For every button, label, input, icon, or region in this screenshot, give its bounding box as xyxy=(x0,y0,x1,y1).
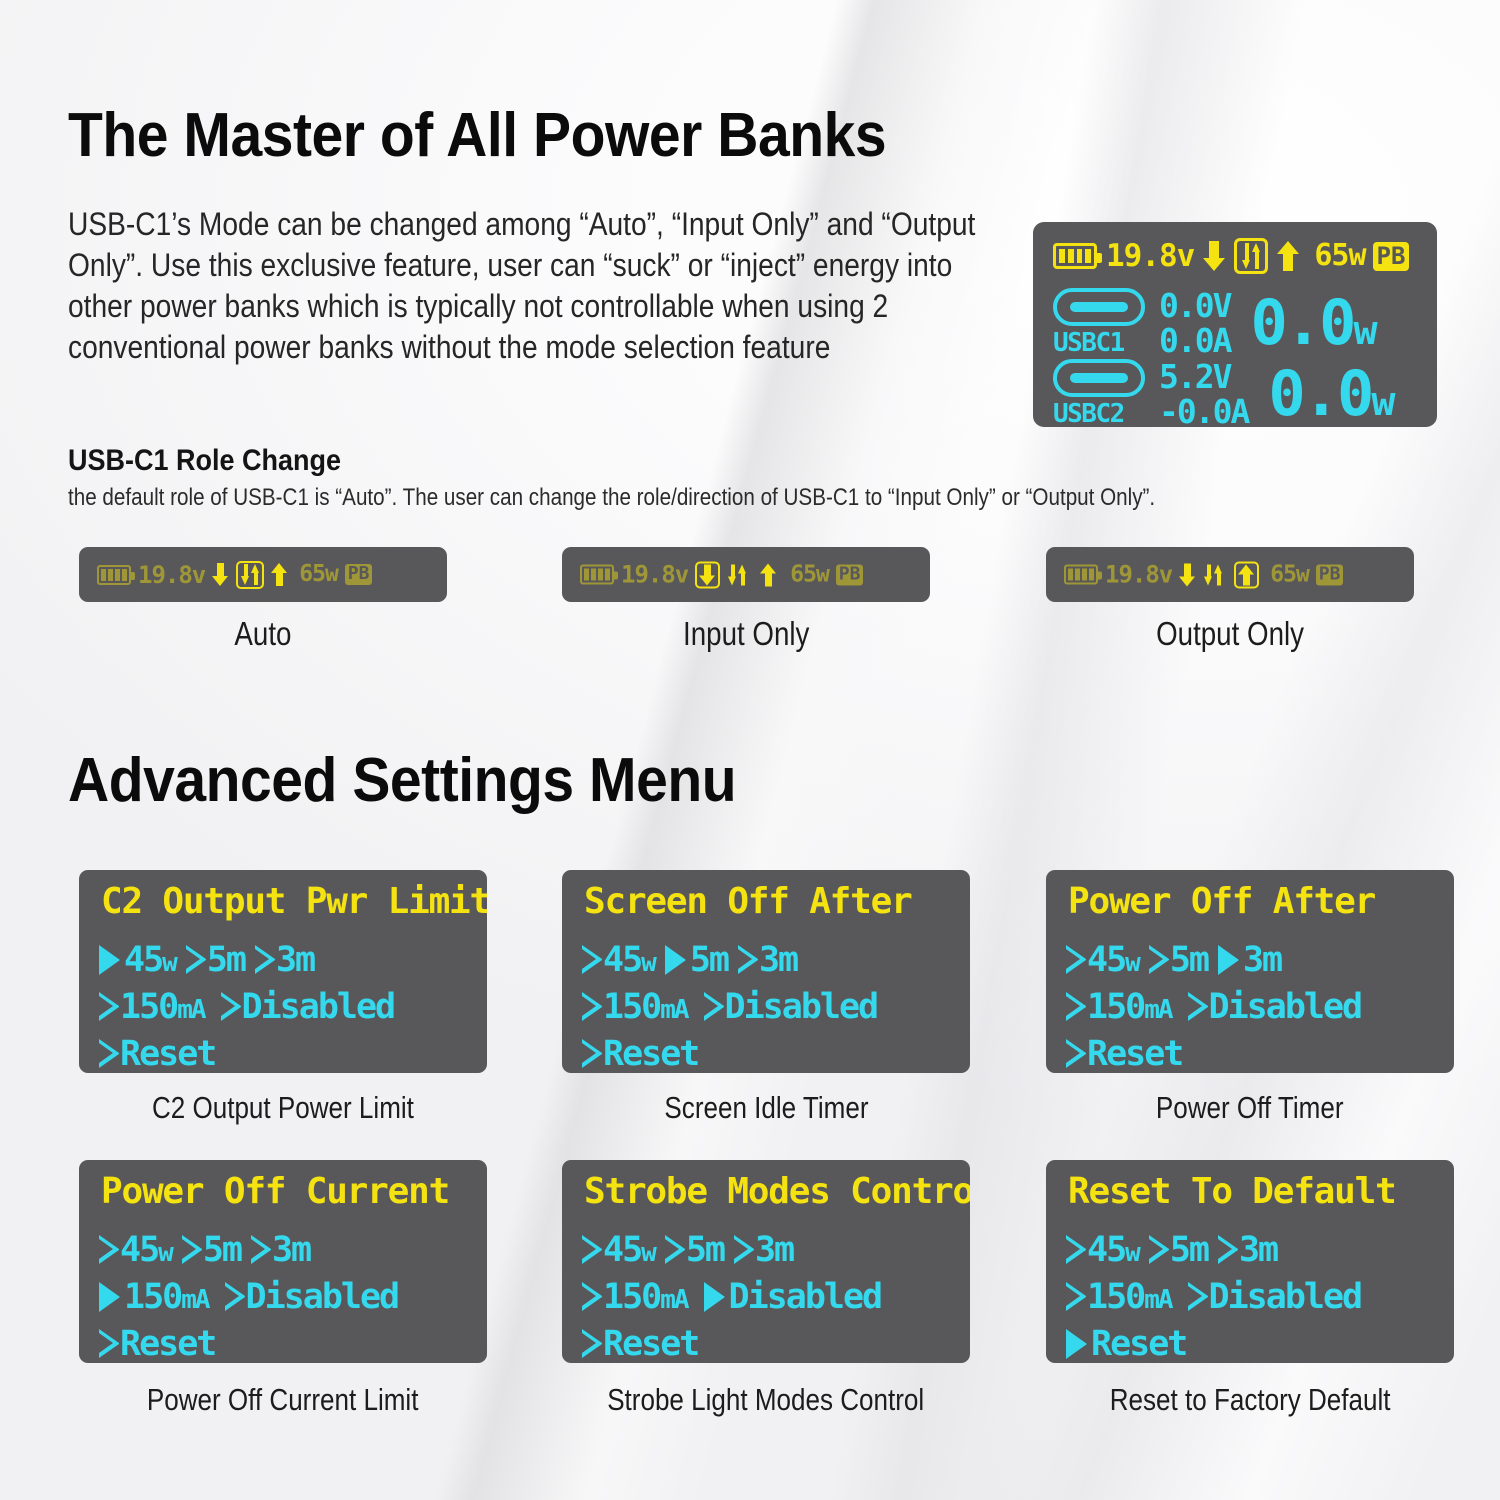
settings-option-label: Reset xyxy=(603,1034,698,1074)
settings-option-reset[interactable]: Reset xyxy=(1066,1034,1182,1074)
settings-option-45w[interactable]: 45w xyxy=(1066,940,1139,980)
settings-option-5m[interactable]: 5m xyxy=(1149,1230,1208,1270)
settings-option-3m[interactable]: 3m xyxy=(738,940,797,980)
settings-option-label: 3m xyxy=(755,1230,793,1270)
settings-option-label: 5m xyxy=(686,1230,724,1270)
settings-option-line: Reset xyxy=(99,1320,398,1363)
settings-option-line: 45w5m3m xyxy=(582,1226,881,1273)
settings-option-line: 45w5m3m xyxy=(99,1226,398,1273)
battery-voltage: 19.8v xyxy=(1106,241,1194,272)
port-label: USBC2 xyxy=(1053,399,1151,427)
option-marker-icon xyxy=(665,1235,682,1264)
arrow-down-icon-selected xyxy=(695,561,720,588)
settings-option-45w[interactable]: 45w xyxy=(582,1230,655,1270)
settings-card-5: Strobe Modes Control45w5m3m150mADisabled… xyxy=(562,1160,970,1363)
settings-card-4: Power Off Current45w5m3m150mADisabledRes… xyxy=(79,1160,487,1363)
settings-option-5m[interactable]: 5m xyxy=(1149,940,1208,980)
settings-option-150ma[interactable]: 150mA xyxy=(99,987,205,1027)
settings-option-label: Disabled xyxy=(729,1277,882,1317)
settings-card-caption-text: Power Off Timer xyxy=(1156,1090,1344,1126)
settings-option-label: 45w xyxy=(120,1230,172,1270)
settings-card-caption: Strobe Light Modes Control xyxy=(562,1382,970,1418)
port-power-value: 0.0 xyxy=(1250,286,1353,359)
port-voltage: 5.2V xyxy=(1159,360,1248,393)
role-display-input-only: 19.8v 65w PB xyxy=(562,547,930,602)
port-power-value: 0.0 xyxy=(1268,357,1371,427)
power-rating: 65w xyxy=(1270,563,1309,586)
settings-option-3m[interactable]: 3m xyxy=(251,1230,310,1270)
role-caption-text: Auto xyxy=(234,615,291,653)
settings-option-disabled[interactable]: Disabled xyxy=(221,987,395,1027)
settings-card-caption: Screen Idle Timer xyxy=(562,1090,970,1126)
settings-option-line: Reset xyxy=(1066,1320,1361,1363)
settings-option-line: Reset xyxy=(582,1320,881,1363)
selected-cursor-icon xyxy=(99,945,120,975)
settings-option-label: 3m xyxy=(1239,1230,1277,1270)
settings-option-line: 150mADisabled xyxy=(1066,983,1361,1030)
settings-option-label: Reset xyxy=(603,1324,698,1364)
option-marker-icon xyxy=(1066,945,1083,974)
settings-option-label: 150mA xyxy=(124,1277,209,1317)
settings-card-title: Screen Off After xyxy=(584,884,912,920)
role-change-note: the default role of USB-C1 is “Auto”. Th… xyxy=(68,484,1155,512)
settings-card-caption-text: Strobe Light Modes Control xyxy=(608,1382,925,1418)
option-marker-icon xyxy=(738,945,755,974)
port-current: -0.0A xyxy=(1159,395,1248,427)
selected-cursor-icon xyxy=(665,945,686,975)
settings-option-label: 3m xyxy=(272,1230,310,1270)
settings-option-label: 5m xyxy=(690,940,728,980)
settings-option-3m[interactable]: 3m xyxy=(734,1230,793,1270)
battery-full-icon xyxy=(97,565,131,585)
option-marker-icon xyxy=(1218,1235,1235,1264)
power-rating: 65w xyxy=(790,563,829,586)
mode-badge: PB xyxy=(345,564,373,585)
settings-option-label: 3m xyxy=(276,940,314,980)
option-marker-icon xyxy=(186,945,203,974)
settings-card-caption: Power Off Current Limit xyxy=(79,1382,487,1418)
port-voltage-current: 0.0V 0.0A xyxy=(1159,289,1230,357)
settings-option-label: Reset xyxy=(120,1324,215,1364)
bidirectional-arrows-icon xyxy=(727,564,747,586)
option-marker-icon xyxy=(734,1235,751,1264)
settings-card-title: Strobe Modes Control xyxy=(584,1174,970,1210)
mode-badge: PB xyxy=(836,564,864,585)
settings-option-label: 5m xyxy=(1170,940,1208,980)
option-marker-icon xyxy=(251,1235,268,1264)
mode-badge: PB xyxy=(1373,242,1410,271)
port-voltage: 0.0V xyxy=(1159,289,1230,322)
role-caption-text: Input Only xyxy=(683,615,809,653)
option-marker-icon xyxy=(99,1039,116,1068)
option-marker-icon xyxy=(221,992,238,1021)
settings-option-label: 5m xyxy=(203,1230,241,1270)
power-rating: 65w xyxy=(1314,241,1365,271)
option-marker-icon xyxy=(582,1039,599,1068)
settings-option-disabled[interactable]: Disabled xyxy=(1188,1277,1362,1317)
role-change-heading: USB-C1 Role Change xyxy=(68,444,341,478)
settings-option-label: Disabled xyxy=(725,987,878,1027)
settings-option-150ma[interactable]: 150mA xyxy=(1066,1277,1172,1317)
settings-option-line: Reset xyxy=(99,1030,394,1073)
option-marker-icon xyxy=(1149,1235,1166,1264)
settings-option-45w[interactable]: 45w xyxy=(582,940,655,980)
settings-option-line: 45w5m3m xyxy=(582,936,877,983)
selected-cursor-icon xyxy=(704,1282,725,1312)
settings-option-label: 3m xyxy=(759,940,797,980)
settings-option-label: 150mA xyxy=(603,1277,688,1317)
arrow-up-icon xyxy=(1277,241,1299,271)
settings-option-line: 150mADisabled xyxy=(582,983,877,1030)
settings-option-line: 150mADisabled xyxy=(1066,1273,1361,1320)
intro-paragraph: USB-C1’s Mode can be changed among “Auto… xyxy=(68,204,1014,368)
settings-option-45w[interactable]: 45w xyxy=(99,1230,172,1270)
settings-option-line: 150mADisabled xyxy=(582,1273,881,1320)
role-display-auto: 19.8v 65w PB xyxy=(79,547,447,602)
settings-card-2: Screen Off After45w5m3m150mADisabledRese… xyxy=(562,870,970,1073)
settings-option-label: Disabled xyxy=(1209,1277,1362,1317)
main-status-display: 19.8v 65w PB USBC1 xyxy=(1033,222,1437,427)
usb-c-port-icon: USBC1 xyxy=(1053,288,1151,358)
settings-card-caption-text: C2 Output Power Limit xyxy=(152,1090,414,1126)
option-marker-icon xyxy=(1188,992,1205,1021)
option-marker-icon xyxy=(255,945,272,974)
option-marker-icon xyxy=(704,992,721,1021)
settings-option-line: Reset xyxy=(582,1030,877,1073)
settings-option-label: 45w xyxy=(1087,1230,1139,1270)
settings-option-label: 45w xyxy=(603,940,655,980)
bidirectional-arrows-icon-selected xyxy=(236,561,264,589)
settings-option-label: 45w xyxy=(124,940,176,980)
settings-card-6: Reset To Default45w5m3m150mADisabledRese… xyxy=(1046,1160,1454,1363)
selected-cursor-icon xyxy=(99,1282,120,1312)
arrow-up-icon-selected xyxy=(1234,561,1259,588)
settings-option-disabled[interactable]: Disabled xyxy=(704,1277,882,1317)
settings-option-disabled[interactable]: Disabled xyxy=(704,987,878,1027)
selected-cursor-icon xyxy=(1218,945,1239,975)
usb-c-port-icon: USBC2 xyxy=(1053,359,1151,427)
battery-voltage: 19.8v xyxy=(1105,563,1172,587)
settings-option-5m[interactable]: 5m xyxy=(186,940,245,980)
option-marker-icon xyxy=(582,1235,599,1264)
settings-card-title: Reset To Default xyxy=(1068,1174,1396,1210)
settings-card-3: Power Off After45w5m3m150mADisabledReset xyxy=(1046,870,1454,1073)
role-caption-input-only: Input Only xyxy=(562,615,930,653)
settings-option-reset[interactable]: Reset xyxy=(99,1034,215,1074)
option-marker-icon xyxy=(1066,992,1083,1021)
settings-option-150ma[interactable]: 150mA xyxy=(1066,987,1172,1027)
settings-option-label: 150mA xyxy=(1087,987,1172,1027)
settings-option-150ma[interactable]: 150mA xyxy=(99,1277,209,1317)
settings-option-label: 3m xyxy=(1243,940,1281,980)
settings-option-label: Reset xyxy=(1087,1034,1182,1074)
settings-option-label: 45w xyxy=(1087,940,1139,980)
option-marker-icon xyxy=(99,1329,116,1358)
settings-option-list: 45w5m3m150mADisabledReset xyxy=(99,1226,398,1363)
settings-option-label: 150mA xyxy=(1087,1277,1172,1317)
arrow-up-icon xyxy=(271,563,288,586)
settings-option-3m[interactable]: 3m xyxy=(255,940,314,980)
option-marker-icon xyxy=(1149,945,1166,974)
settings-option-45w[interactable]: 45w xyxy=(1066,1230,1139,1270)
battery-voltage: 19.8v xyxy=(621,563,688,587)
port-power: 0.0w xyxy=(1268,363,1393,425)
port-power-unit: w xyxy=(1371,379,1393,425)
option-marker-icon xyxy=(225,1282,242,1311)
option-marker-icon xyxy=(1066,1039,1083,1068)
battery-full-icon xyxy=(1064,565,1098,585)
option-marker-icon xyxy=(582,1282,599,1311)
option-marker-icon xyxy=(1066,1282,1083,1311)
option-marker-icon xyxy=(1066,1235,1083,1264)
mode-badge: PB xyxy=(1316,564,1344,585)
status-bar: 19.8v 65w PB xyxy=(1053,238,1409,274)
option-marker-icon xyxy=(99,1235,116,1264)
power-rating: 65w xyxy=(299,563,338,586)
settings-option-line: 150mADisabled xyxy=(99,1273,398,1320)
port-row-usbc2: USBC2 5.2V -0.0A 0.0w xyxy=(1053,359,1393,427)
settings-card-caption: Power Off Timer xyxy=(1046,1090,1454,1126)
settings-option-line: 45w5m3m xyxy=(1066,936,1361,983)
option-marker-icon xyxy=(582,945,599,974)
settings-option-reset[interactable]: Reset xyxy=(99,1324,215,1364)
port-current: 0.0A xyxy=(1159,324,1230,357)
battery-voltage: 19.8v xyxy=(138,563,205,587)
settings-option-label: 5m xyxy=(207,940,245,980)
role-caption-auto: Auto xyxy=(79,615,447,653)
settings-option-disabled[interactable]: Disabled xyxy=(1188,987,1362,1027)
settings-card-title: C2 Output Pwr Limit xyxy=(101,884,487,920)
port-voltage-current: 5.2V -0.0A xyxy=(1159,360,1248,427)
settings-option-label: 150mA xyxy=(120,987,205,1027)
settings-option-list: 45w5m3m150mADisabledReset xyxy=(99,936,394,1073)
option-marker-icon xyxy=(582,1329,599,1358)
role-caption-text: Output Only xyxy=(1156,615,1304,653)
settings-option-label: Disabled xyxy=(242,987,395,1027)
settings-option-line: 45w5m3m xyxy=(99,936,394,983)
port-power-unit: w xyxy=(1353,308,1375,354)
arrow-down-icon xyxy=(212,563,229,586)
settings-option-label: Reset xyxy=(1091,1324,1186,1364)
settings-option-label: 150mA xyxy=(603,987,688,1027)
settings-option-line: 45w5m3m xyxy=(1066,1226,1361,1273)
settings-option-line: 150mADisabled xyxy=(99,983,394,1030)
settings-option-150ma[interactable]: 150mA xyxy=(582,987,688,1027)
port-row-usbc1: USBC1 0.0V 0.0A 0.0w xyxy=(1053,288,1376,358)
settings-option-label: Disabled xyxy=(246,1277,399,1317)
settings-option-150ma[interactable]: 150mA xyxy=(582,1277,688,1317)
option-marker-icon xyxy=(582,992,599,1021)
bidirectional-arrows-icon xyxy=(1203,564,1223,586)
role-display-output-only: 19.8v 65w PB xyxy=(1046,547,1414,602)
settings-option-line: Reset xyxy=(1066,1030,1361,1073)
settings-option-3m[interactable]: 3m xyxy=(1218,1230,1277,1270)
settings-card-caption: Reset to Factory Default xyxy=(1046,1382,1454,1418)
option-marker-icon xyxy=(182,1235,199,1264)
bidirectional-arrows-icon xyxy=(1234,238,1268,274)
settings-card-1: C2 Output Pwr Limit45w5m3m150mADisabledR… xyxy=(79,870,487,1073)
settings-card-caption-text: Reset to Factory Default xyxy=(1110,1382,1391,1418)
arrow-down-icon xyxy=(1203,241,1225,271)
settings-card-title: Power Off Current xyxy=(101,1174,449,1210)
port-power: 0.0w xyxy=(1250,292,1375,354)
port-label: USBC1 xyxy=(1053,328,1151,358)
settings-card-title: Power Off After xyxy=(1068,884,1375,920)
settings-option-5m[interactable]: 5m xyxy=(665,940,728,980)
selected-cursor-icon xyxy=(1066,1329,1087,1359)
section-title: Advanced Settings Menu xyxy=(68,745,736,816)
settings-option-disabled[interactable]: Disabled xyxy=(225,1277,399,1317)
battery-full-icon xyxy=(1053,243,1097,269)
battery-full-icon xyxy=(580,565,614,585)
arrow-up-icon xyxy=(760,563,777,586)
settings-option-5m[interactable]: 5m xyxy=(665,1230,724,1270)
settings-card-caption: C2 Output Power Limit xyxy=(79,1090,487,1126)
arrow-down-icon xyxy=(1179,563,1196,586)
settings-card-caption-text: Screen Idle Timer xyxy=(664,1090,868,1126)
settings-option-list: 45w5m3m150mADisabledReset xyxy=(582,1226,881,1363)
page-title: The Master of All Power Banks xyxy=(68,100,886,171)
settings-option-label: 5m xyxy=(1170,1230,1208,1270)
settings-option-45w[interactable]: 45w xyxy=(99,940,176,980)
option-marker-icon xyxy=(99,992,116,1021)
role-caption-output-only: Output Only xyxy=(1046,615,1414,653)
settings-option-label: Reset xyxy=(120,1034,215,1074)
settings-option-reset[interactable]: Reset xyxy=(1066,1324,1186,1364)
settings-option-list: 45w5m3m150mADisabledReset xyxy=(1066,936,1361,1073)
settings-option-list: 45w5m3m150mADisabledReset xyxy=(1066,1226,1361,1363)
settings-option-reset[interactable]: Reset xyxy=(582,1034,698,1074)
settings-option-5m[interactable]: 5m xyxy=(182,1230,241,1270)
settings-option-3m[interactable]: 3m xyxy=(1218,940,1281,980)
settings-option-list: 45w5m3m150mADisabledReset xyxy=(582,936,877,1073)
settings-option-label: Disabled xyxy=(1209,987,1362,1027)
settings-card-caption-text: Power Off Current Limit xyxy=(147,1382,419,1418)
settings-option-label: 45w xyxy=(603,1230,655,1270)
option-marker-icon xyxy=(1188,1282,1205,1311)
settings-option-reset[interactable]: Reset xyxy=(582,1324,698,1364)
